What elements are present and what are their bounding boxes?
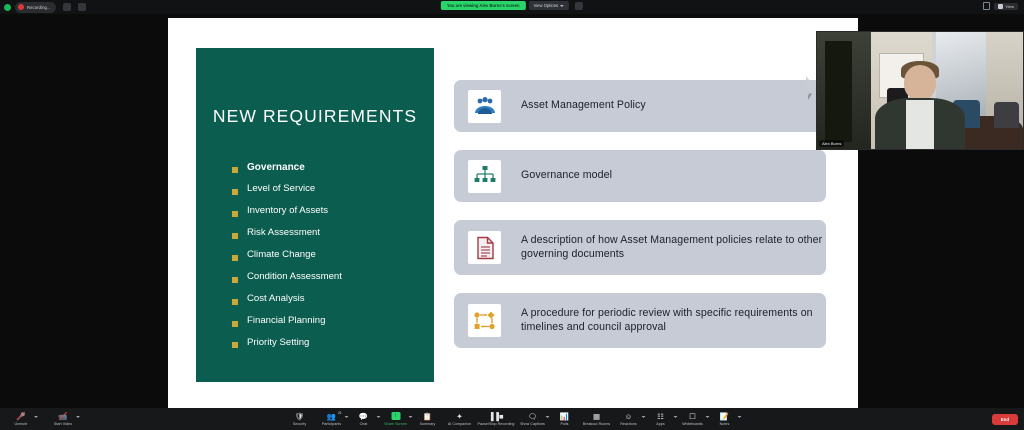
participant-name-label: Alex Burns xyxy=(819,140,844,147)
participants-count-badge: 21 xyxy=(338,411,342,415)
start-video-label: Start Video xyxy=(54,422,72,426)
card-policy-description: A description of how Asset Management po… xyxy=(454,220,826,275)
card-text: A procedure for periodic review with spe… xyxy=(521,307,826,335)
slide-left-panel: NEW REQUIREMENTS Governance Level of Ser… xyxy=(196,48,434,382)
requirement-label: Level of Service xyxy=(247,184,315,195)
fullscreen-icon[interactable] xyxy=(983,2,990,10)
bullet-square-icon xyxy=(232,277,238,283)
reactions-icon: ☺ xyxy=(625,412,633,421)
requirement-item-governance: Governance xyxy=(232,162,422,173)
participant-video-thumbnail[interactable]: Alex Burns xyxy=(816,31,1024,150)
bullet-square-icon xyxy=(232,299,238,305)
card-text: Governance model xyxy=(521,169,612,183)
recording-indicator[interactable]: Recording... xyxy=(15,2,56,13)
chat-icon: 💬 xyxy=(359,412,368,421)
window-maximize-button[interactable] xyxy=(78,3,86,11)
requirement-item-risk-assessment: Risk Assessment xyxy=(232,228,422,239)
chat-button[interactable]: 💬 Chat xyxy=(348,412,380,427)
slide-panel-title: NEW REQUIREMENTS xyxy=(196,106,434,127)
toolbar-audio-video-group: 🎤 Unmute 📹 Start Video xyxy=(0,412,79,427)
apps-label: Apps xyxy=(656,422,664,426)
top-bar-right-group: View xyxy=(983,2,1018,10)
meeting-top-bar: Recording... You are viewing Alex Burns'… xyxy=(0,0,1024,14)
show-captions-label: Show Captions xyxy=(520,422,545,426)
requirement-label: Financial Planning xyxy=(247,316,325,327)
chevron-down-icon xyxy=(560,5,564,7)
card-governance-model: Governance model xyxy=(454,150,826,202)
share-toolbar-collapse-button[interactable] xyxy=(575,2,583,10)
apps-icon: ☷ xyxy=(657,412,664,421)
breakout-rooms-label: Breakout Rooms xyxy=(583,422,610,426)
reactions-label: Reactions xyxy=(620,422,636,426)
unmute-button[interactable]: 🎤 Unmute xyxy=(5,412,37,427)
captions-icon: 🗨 xyxy=(528,412,538,421)
requirement-item-inventory-of-assets: Inventory of Assets xyxy=(232,206,422,217)
requirement-item-priority-setting: Priority Setting xyxy=(232,338,422,349)
bullet-square-icon xyxy=(232,167,238,173)
view-options-dropdown[interactable]: View Options xyxy=(529,1,570,10)
show-captions-button[interactable]: 🗨 Show Captions xyxy=(516,412,548,427)
chevron-down-icon[interactable] xyxy=(76,416,80,418)
document-icon xyxy=(468,231,501,264)
shared-screen-area[interactable]: NEW REQUIREMENTS Governance Level of Ser… xyxy=(168,18,858,410)
ai-companion-label: AI Companion xyxy=(448,422,471,426)
bullet-square-icon xyxy=(232,255,238,261)
share-screen-label: Share Screen xyxy=(384,422,407,426)
org-chart-icon xyxy=(468,160,501,193)
breakout-rooms-button[interactable]: ▦ Breakout Rooms xyxy=(580,412,612,427)
thumbnail-collapse-arrow-icon[interactable] xyxy=(806,76,815,98)
reactions-button[interactable]: ☺ Reactions xyxy=(612,412,644,427)
requirement-item-financial-planning: Financial Planning xyxy=(232,316,422,327)
bullet-square-icon xyxy=(232,321,238,327)
polls-button[interactable]: 📊 Polls xyxy=(548,412,580,427)
requirement-label: Governance xyxy=(247,162,305,173)
whiteboard-icon: ☐ xyxy=(689,412,696,421)
security-button[interactable]: 🛡 Security xyxy=(284,412,316,427)
grid-view-icon xyxy=(998,4,1003,9)
participants-label: Participants xyxy=(322,422,341,426)
chat-label: Chat xyxy=(360,422,368,426)
requirement-item-cost-analysis: Cost Analysis xyxy=(232,294,422,305)
top-bar-left-group: Recording... xyxy=(0,2,86,13)
process-flow-icon xyxy=(468,304,501,337)
card-periodic-review-procedure: A procedure for periodic review with spe… xyxy=(454,293,826,348)
presentation-slide: NEW REQUIREMENTS Governance Level of Ser… xyxy=(168,18,858,410)
video-feed xyxy=(817,32,1023,149)
requirement-label: Cost Analysis xyxy=(247,294,305,305)
record-dot-icon xyxy=(18,4,24,10)
requirement-label: Condition Assessment xyxy=(247,272,342,283)
pause-stop-recording-label: Pause/Stop Recording xyxy=(478,422,515,426)
notes-button[interactable]: 📝 Notes xyxy=(708,412,740,427)
people-group-icon xyxy=(468,90,501,123)
view-layout-button[interactable]: View xyxy=(994,3,1018,10)
window-minimize-button[interactable] xyxy=(63,3,71,11)
meeting-toolbar: 🎤 Unmute 📹 Start Video 🛡 Security 👥 21 xyxy=(0,408,1024,430)
ai-companion-icon: ✦ xyxy=(456,412,462,421)
microphone-muted-icon: 🎤 xyxy=(16,412,27,421)
whiteboards-button[interactable]: ☐ Whiteboards xyxy=(676,412,708,427)
end-meeting-button[interactable]: End xyxy=(992,414,1018,425)
bullet-square-icon xyxy=(232,189,238,195)
summary-label: Summary xyxy=(420,422,436,426)
requirements-list: Governance Level of Service Inventory of… xyxy=(232,162,422,360)
ai-companion-button[interactable]: ✦ AI Companion xyxy=(444,412,476,427)
toolbar-end-group: End xyxy=(992,414,1018,425)
notes-label: Notes xyxy=(720,422,730,426)
recording-label: Recording... xyxy=(27,5,51,10)
breakout-rooms-icon: ▦ xyxy=(593,412,600,421)
toolbar-main-group: 🛡 Security 👥 21 Participants 💬 Chat ↑ Sh… xyxy=(284,412,741,427)
card-asset-management-policy: Asset Management Policy xyxy=(454,80,826,132)
polls-label: Polls xyxy=(560,422,568,426)
requirement-label: Priority Setting xyxy=(247,338,309,349)
requirement-label: Climate Change xyxy=(247,250,316,261)
card-text: A description of how Asset Management po… xyxy=(521,234,826,262)
apps-button[interactable]: ☷ Apps xyxy=(644,412,676,427)
recording-controls-icon: ▐▐■ xyxy=(488,412,503,421)
chevron-down-icon[interactable] xyxy=(737,416,741,418)
video-muted-icon: 📹 xyxy=(58,412,69,421)
unmute-label: Unmute xyxy=(15,422,28,426)
start-video-button[interactable]: 📹 Start Video xyxy=(47,412,79,427)
summary-button[interactable]: 📋 Summary xyxy=(412,412,444,427)
share-screen-icon: ↑ xyxy=(391,412,400,421)
view-options-label: View Options xyxy=(534,3,559,8)
bullet-square-icon xyxy=(232,342,238,348)
summary-icon: 📋 xyxy=(423,412,432,421)
requirement-label: Inventory of Assets xyxy=(247,206,328,217)
share-screen-button[interactable]: ↑ Share Screen xyxy=(380,412,412,427)
security-label: Security xyxy=(293,422,306,426)
shield-icon: 🛡 xyxy=(295,412,305,421)
requirement-item-climate-change: Climate Change xyxy=(232,250,422,261)
screen-share-status-group: You are viewing Alex Burns's screen View… xyxy=(441,1,583,10)
view-label: View xyxy=(1005,4,1014,9)
participants-button[interactable]: 👥 21 Participants xyxy=(316,412,348,427)
requirement-item-level-of-service: Level of Service xyxy=(232,184,422,195)
notes-icon: 📝 xyxy=(720,412,729,421)
polls-icon: 📊 xyxy=(560,412,569,421)
pause-stop-recording-button[interactable]: ▐▐■ Pause/Stop Recording xyxy=(476,412,517,427)
slide-cards-column: Asset Management Policy xyxy=(454,80,826,366)
requirement-label: Risk Assessment xyxy=(247,228,320,239)
screen-share-banner: You are viewing Alex Burns's screen xyxy=(441,1,526,10)
zoom-meeting-window: Recording... You are viewing Alex Burns'… xyxy=(0,0,1024,430)
chevron-down-icon[interactable] xyxy=(34,416,38,418)
meeting-active-indicator-icon xyxy=(4,4,11,11)
bullet-square-icon xyxy=(232,211,238,217)
card-text: Asset Management Policy xyxy=(521,99,646,113)
participants-icon: 👥 xyxy=(327,412,336,421)
whiteboards-label: Whiteboards xyxy=(682,422,703,426)
requirement-item-condition-assessment: Condition Assessment xyxy=(232,272,422,283)
bullet-square-icon xyxy=(232,233,238,239)
